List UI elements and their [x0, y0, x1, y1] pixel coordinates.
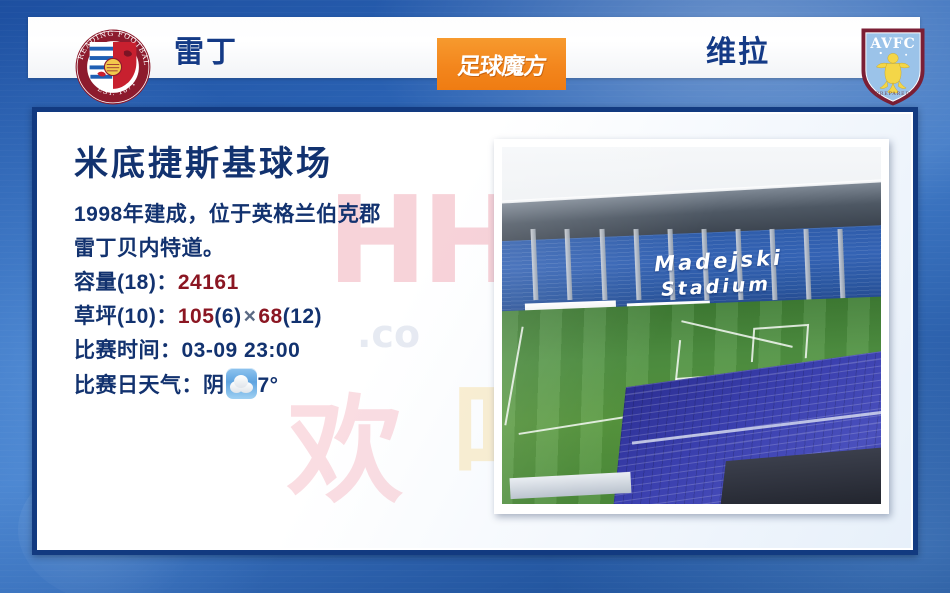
pitch-length-value: 105: [178, 305, 215, 328]
weather-temperature: 7°: [258, 374, 279, 397]
home-team-crest-icon: READING FOOTBALL CLUB EST. 1871: [74, 28, 152, 106]
match-time-label: 比赛时间：: [74, 339, 182, 362]
weather-label: 比赛日天气：: [74, 374, 203, 397]
match-weather-row: 比赛日天气：阴 7°: [74, 368, 494, 403]
photo-goal-far: [751, 323, 809, 361]
stadium-description-line-2: 雷丁贝内特道。: [74, 232, 494, 266]
content-panel-frame: HH .co 欢 呵 米底捷斯基球场 1998年建成，位于英格兰伯克郡 雷丁贝内…: [32, 107, 918, 555]
match-time-row: 比赛时间：03-09 23:00: [74, 334, 494, 368]
weather-condition: 阴: [203, 374, 225, 397]
content-panel: HH .co 欢 呵 米底捷斯基球场 1998年建成，位于英格兰伯克郡 雷丁贝内…: [37, 112, 913, 550]
capacity-value: 24161: [178, 271, 239, 294]
pitch-length-rank: (6): [214, 305, 241, 328]
capacity-row: 容量(18)：24161: [74, 266, 494, 300]
stadium-photo-frame[interactable]: Madejski Stadium: [494, 139, 889, 514]
cloudy-weather-icon: [226, 368, 257, 399]
capacity-label: 容量(18)：: [74, 271, 178, 294]
match-time-value: 03-09 23:00: [182, 339, 301, 362]
away-team-crest-icon: AVFC PREPARED: [858, 25, 928, 109]
pitch-size-label: 草坪(10)：: [74, 305, 178, 328]
pitch-width-value: 68: [258, 305, 282, 328]
brand-logo-text: 足球魔方: [456, 47, 548, 81]
pitch-size-separator: ×: [242, 305, 259, 328]
stadium-title: 米底捷斯基球场: [74, 142, 494, 186]
brand-logo[interactable]: 足球魔方: [437, 38, 566, 90]
stadium-photo: Madejski Stadium: [502, 147, 881, 504]
stadium-description-line-1: 1998年建成，位于英格兰伯克郡: [74, 198, 494, 232]
stadium-info-block: 米底捷斯基球场 1998年建成，位于英格兰伯克郡 雷丁贝内特道。 容量(18)：…: [74, 142, 494, 403]
away-crest-initials: AVFC: [869, 36, 915, 52]
away-crest-motto: PREPARED: [876, 91, 910, 97]
pitch-width-rank: (12): [283, 305, 322, 328]
away-team-name: 维拉: [706, 36, 770, 70]
stadium-info-card: READING FOOTBALL CLUB EST. 1871 雷丁 足球魔方 …: [0, 0, 950, 593]
home-team-name: 雷丁: [174, 36, 238, 70]
pitch-size-row: 草坪(10)：105(6)×68(12): [74, 300, 494, 334]
match-header-band: READING FOOTBALL CLUB EST. 1871 雷丁 足球魔方 …: [28, 17, 920, 78]
